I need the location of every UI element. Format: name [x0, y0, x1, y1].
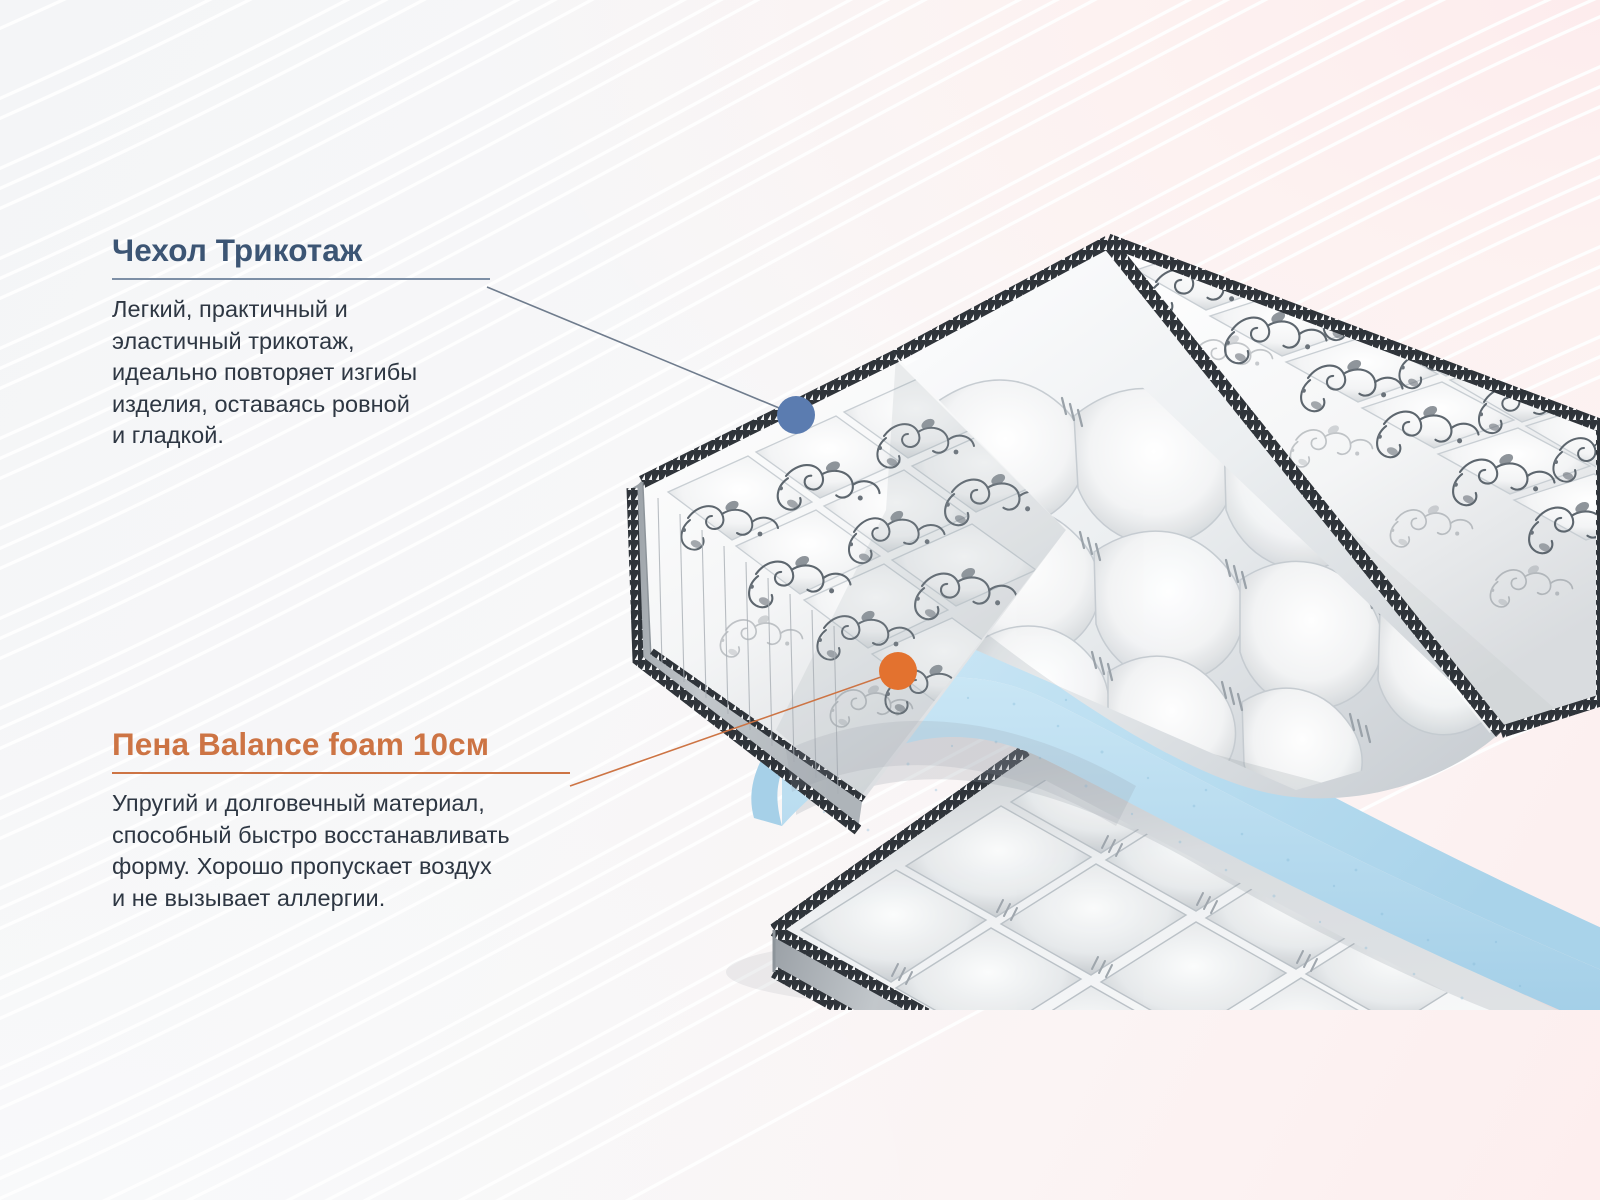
- callout-cover-body: Легкий, практичный и эластичный трикотаж…: [112, 294, 532, 452]
- callout-foam-rule: [112, 772, 570, 774]
- callout-cover: Чехол Трикотаж Легкий, практичный и элас…: [112, 232, 532, 452]
- cover-leader-line: [487, 287, 796, 415]
- illustration-stage: Чехол Трикотаж Легкий, практичный и элас…: [0, 0, 1600, 1200]
- foam-marker-dot[interactable]: [879, 652, 917, 690]
- cover-marker-dot[interactable]: [777, 396, 815, 434]
- callout-cover-rule: [112, 278, 490, 280]
- foam-leader-line: [570, 671, 898, 786]
- leader-lines: [0, 0, 1600, 1200]
- callout-foam-heading: Пена Balance foam 10см: [112, 726, 582, 763]
- callout-cover-heading: Чехол Трикотаж: [112, 232, 532, 269]
- callout-foam-body: Упругий и долговечный материал, способны…: [112, 788, 582, 914]
- callout-foam: Пена Balance foam 10см Упругий и долгове…: [112, 726, 582, 914]
